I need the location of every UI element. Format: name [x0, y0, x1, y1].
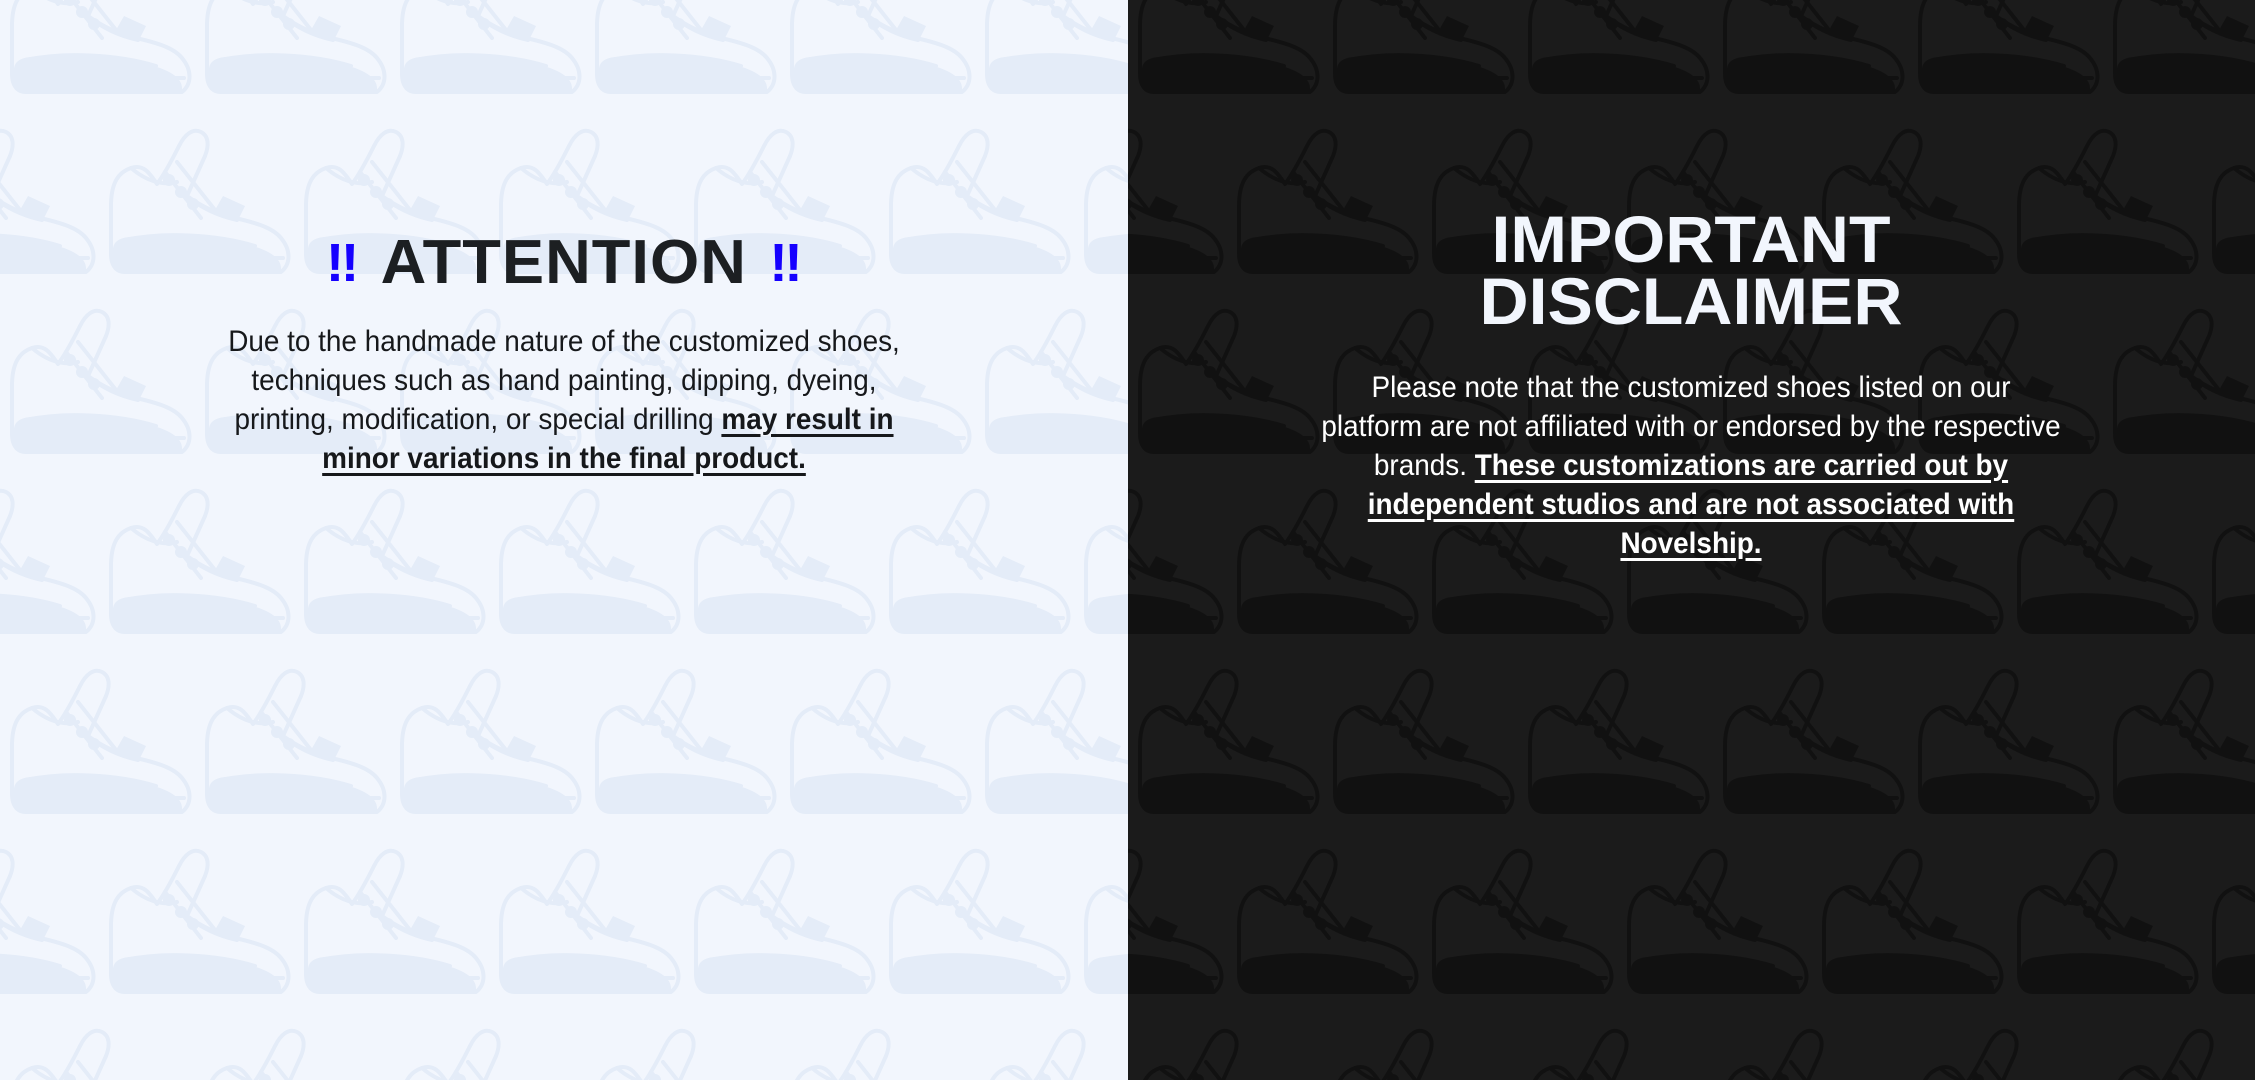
- attention-panel: ‼ATTENTION‼ Due to the handmade nature o…: [0, 0, 1128, 1080]
- disclaimer-body: Please note that the customized shoes li…: [1319, 368, 2063, 563]
- double-exclamation-icon: ‼: [326, 233, 358, 293]
- attention-heading-text: ATTENTION: [381, 228, 747, 297]
- disclaimer-content: IMPORTANT DISCLAIMER Please note that th…: [1128, 0, 2255, 563]
- disclaimer-heading-line2: DISCLAIMER: [1480, 264, 1903, 338]
- attention-content: ‼ATTENTION‼ Due to the handmade nature o…: [0, 0, 1128, 478]
- attention-heading: ‼ATTENTION‼: [0, 232, 1128, 294]
- attention-body: Due to the handmade nature of the custom…: [220, 322, 908, 478]
- disclaimer-panel: IMPORTANT DISCLAIMER Please note that th…: [1128, 0, 2255, 1080]
- double-exclamation-icon: ‼: [769, 233, 801, 293]
- disclaimer-banner: ‼ATTENTION‼ Due to the handmade nature o…: [0, 0, 2255, 1080]
- disclaimer-heading: IMPORTANT DISCLAIMER: [1362, 208, 2021, 332]
